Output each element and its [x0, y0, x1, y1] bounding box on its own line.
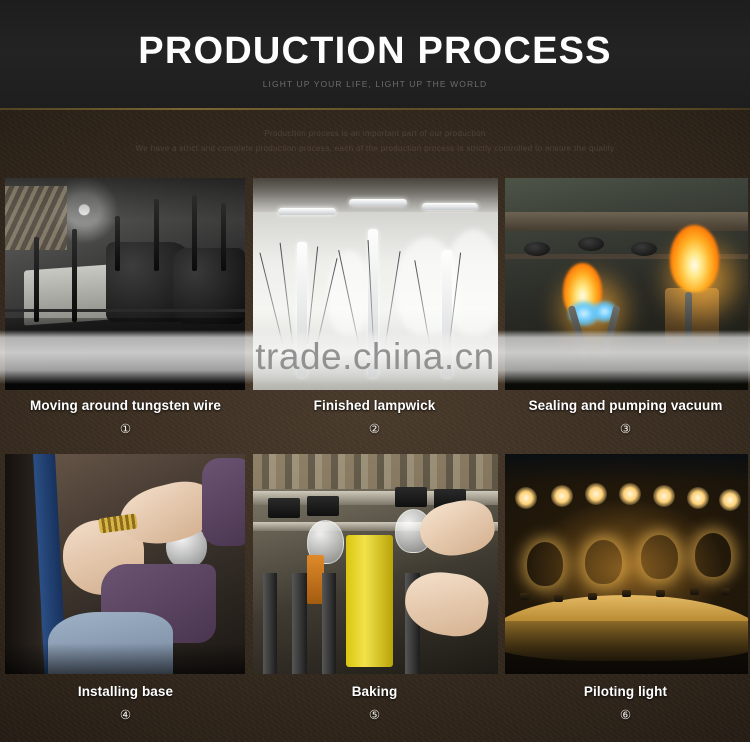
photo-sealing-pumping-vacuum — [505, 178, 748, 390]
intro-line-2: We have a strict and complete production… — [0, 141, 750, 156]
process-step-2[interactable] — [253, 178, 498, 390]
caption-step-6: Piloting light ⑥ — [503, 682, 748, 723]
caption-number-6: ⑥ — [503, 707, 748, 723]
photo-installing-base — [5, 454, 245, 674]
process-step-4[interactable] — [5, 454, 245, 674]
photo-baking-rig — [253, 454, 498, 674]
caption-row-2: Installing base ④ Baking ⑤ Piloting ligh… — [0, 682, 750, 734]
caption-step-2: Finished lampwick ② — [252, 396, 497, 437]
photo-piloting-light — [505, 454, 748, 674]
caption-label-4: Installing base — [3, 682, 248, 702]
caption-label-1: Moving around tungsten wire — [3, 396, 248, 416]
caption-row-1: Moving around tungsten wire ① Finished l… — [0, 396, 750, 448]
caption-step-3: Sealing and pumping vacuum ③ — [503, 396, 748, 437]
page-subtitle: LIGHT UP YOUR LIFE, LIGHT UP THE WORLD — [0, 79, 750, 89]
process-photo-grid: Moving around tungsten wire ① Finished l… — [0, 178, 750, 674]
caption-label-5: Baking — [252, 682, 497, 702]
caption-label-6: Piloting light — [503, 682, 748, 702]
process-step-5[interactable] — [253, 454, 498, 674]
page-header: PRODUCTION PROCESS LIGHT UP YOUR LIFE, L… — [0, 0, 750, 110]
intro-line-1: Production process is an important part … — [0, 126, 750, 141]
process-row-2 — [0, 454, 750, 674]
caption-step-4: Installing base ④ — [3, 682, 248, 723]
photo-tungsten-wire-machinery — [5, 178, 245, 390]
caption-step-5: Baking ⑤ — [252, 682, 497, 723]
caption-number-1: ① — [3, 421, 248, 437]
caption-step-1: Moving around tungsten wire ① — [3, 396, 248, 437]
process-step-6[interactable] — [505, 454, 748, 674]
caption-label-2: Finished lampwick — [252, 396, 497, 416]
page-title: PRODUCTION PROCESS — [0, 32, 750, 70]
caption-number-3: ③ — [503, 421, 748, 437]
process-step-3[interactable] — [505, 178, 748, 390]
caption-number-4: ④ — [3, 707, 248, 723]
photo-finished-lampwick — [253, 178, 498, 390]
process-step-1[interactable] — [5, 178, 245, 390]
caption-number-2: ② — [252, 421, 497, 437]
caption-label-3: Sealing and pumping vacuum — [503, 396, 748, 416]
intro-paragraph: Production process is an important part … — [0, 126, 750, 156]
process-row-1 — [0, 178, 750, 390]
caption-number-5: ⑤ — [252, 707, 497, 723]
page-background: PRODUCTION PROCESS LIGHT UP YOUR LIFE, L… — [0, 0, 750, 742]
